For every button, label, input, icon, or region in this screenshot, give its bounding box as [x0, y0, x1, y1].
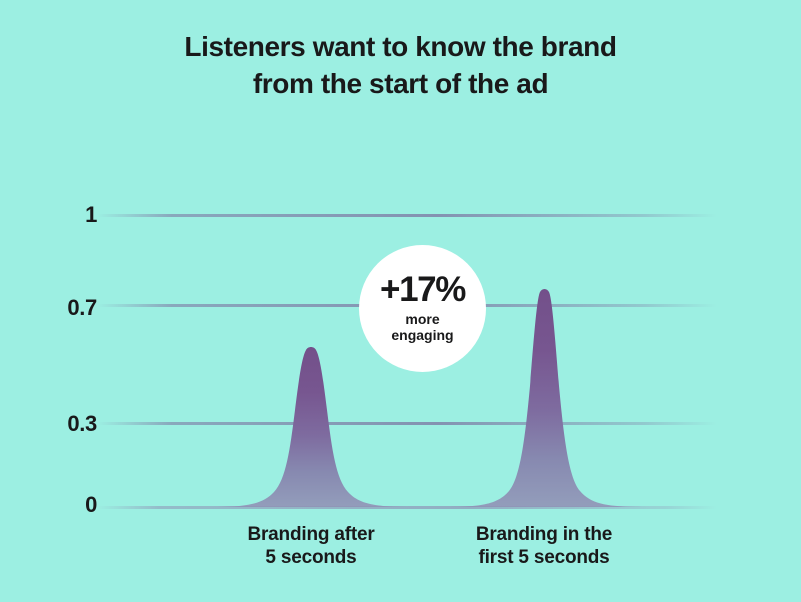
infographic-chart: Listeners want to know the brand from th… [0, 0, 801, 602]
badge-caption: more engaging [391, 311, 453, 343]
x-tick-label-line-1: Branding after [196, 523, 426, 546]
y-tick-0-3: 0.3 [67, 413, 97, 435]
badge-caption-line-1: more [391, 311, 453, 327]
density-peak-branding-after-5-seconds [205, 347, 417, 507]
y-tick-0-7: 0.7 [67, 297, 97, 319]
x-tick-branding-in-the-first-5-seconds: Branding in the first 5 seconds [429, 523, 659, 569]
baseline [97, 506, 717, 509]
x-tick-label-line-2: first 5 seconds [429, 546, 659, 569]
badge-value: +17% [380, 272, 465, 308]
x-tick-label-line-1: Branding in the [429, 523, 659, 546]
y-tick-1: 1 [85, 204, 97, 226]
y-axis: 1 0.7 0.3 0 [0, 0, 97, 602]
y-tick-0: 0 [85, 494, 97, 516]
x-tick-label-line-2: 5 seconds [196, 546, 426, 569]
callout-badge: +17% more engaging [359, 245, 486, 372]
x-tick-branding-after-5-seconds: Branding after 5 seconds [196, 523, 426, 569]
badge-caption-line-2: engaging [391, 327, 453, 343]
